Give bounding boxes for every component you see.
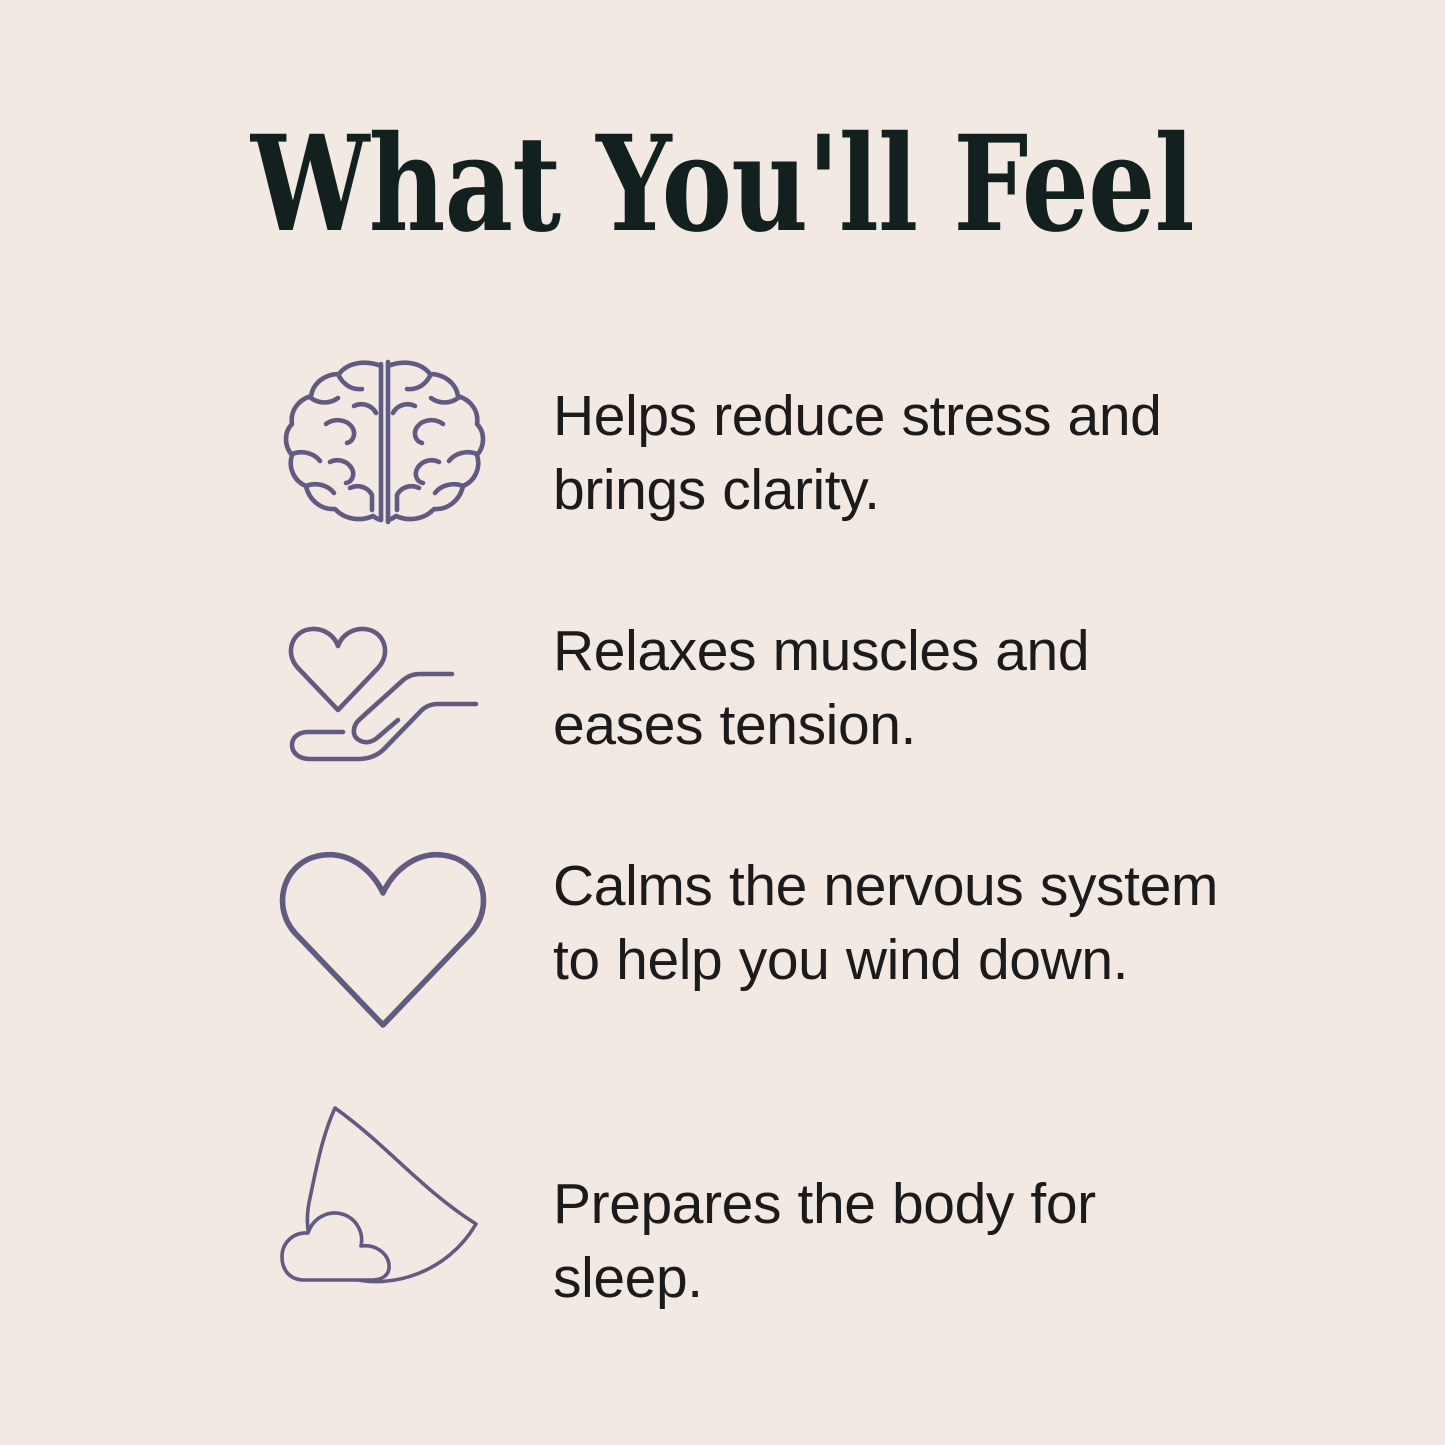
- benefit-text: Relaxes muscles and eases tension.: [553, 614, 1253, 762]
- benefit-text: Helps reduce stress and brings clarity.: [553, 379, 1253, 527]
- heart-icon: [272, 847, 494, 1032]
- moon-cloud-icon: [280, 1094, 496, 1294]
- benefit-text: Prepares the body for sleep.: [553, 1167, 1253, 1315]
- what-you-will-feel-panel: What You'll Feel: [0, 0, 1445, 1445]
- benefit-text: Calms the nervous system to help you win…: [553, 849, 1253, 997]
- hand-holding-heart-icon: [280, 618, 496, 778]
- page-title-container: What You'll Feel: [0, 118, 1445, 253]
- page-title: What You'll Feel: [251, 118, 1194, 253]
- brain-icon: [282, 358, 494, 526]
